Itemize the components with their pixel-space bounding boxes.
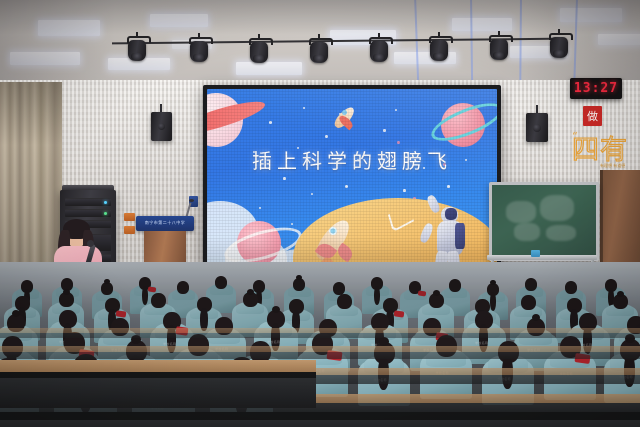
student-head — [525, 278, 537, 291]
student-head — [449, 279, 461, 292]
chalkboard-surface[interactable] — [489, 182, 599, 261]
student-hair-bun — [63, 289, 70, 295]
screenshot-root: 插上科学的翅膀飞 南宁市第二十八中学 13:27 做 “ 四有 有理想 — [0, 0, 640, 427]
stage-spotlight — [188, 37, 210, 64]
stage-spotlight — [548, 33, 570, 60]
stage-spotlight — [308, 38, 330, 65]
led-wall-clock: 13:27 — [570, 78, 622, 99]
student-head — [337, 294, 352, 309]
stage-spotlight — [248, 38, 270, 65]
student-head — [177, 281, 189, 294]
student-head — [333, 282, 345, 295]
lectern-name-panel: 南宁市第二十八中学 — [136, 216, 194, 231]
red-neckerchief — [115, 310, 126, 318]
stage-spotlight — [428, 36, 450, 63]
stage-spotlight — [488, 35, 510, 62]
chalkboard-ledge — [487, 255, 597, 260]
wall-poster-a — [124, 213, 135, 221]
lectern-mic-head — [189, 199, 194, 202]
banner-slogan: 四有 — [572, 128, 640, 168]
left-wall-speaker — [151, 112, 172, 141]
wall-poster-b — [124, 226, 135, 234]
student-head — [215, 276, 227, 289]
clock-time: 13:27 — [574, 81, 618, 96]
banner-subtext: 有理想 有道德 — [600, 163, 625, 169]
right-wall-speaker — [526, 113, 548, 142]
student-hair-bun — [247, 289, 254, 295]
student-hair-bun — [379, 337, 389, 346]
stage-spotlight — [368, 37, 390, 64]
banner-seal-text: 做 — [587, 111, 598, 122]
slide-title: 插上科学的翅膀飞 — [207, 145, 497, 174]
audience-area: 学校名称学校名称学校名称学校名称学校名称学校名称学校名称学校名称学校名称学校名称… — [0, 262, 640, 427]
lectern-name-text: 南宁市第二十八中学 — [136, 220, 194, 226]
student-hair-bun — [617, 291, 624, 297]
student-head — [151, 293, 166, 308]
led-display-screen[interactable]: 插上科学的翅膀飞 — [207, 89, 497, 278]
banner-seal: 做 — [583, 106, 602, 126]
student-head — [521, 295, 536, 310]
led-display-bezel: 插上科学的翅膀飞 — [203, 85, 501, 282]
student-hair-bun — [433, 290, 440, 296]
stage-spotlight — [126, 36, 148, 63]
student-head — [565, 281, 577, 294]
chalk-box[interactable] — [531, 250, 540, 257]
